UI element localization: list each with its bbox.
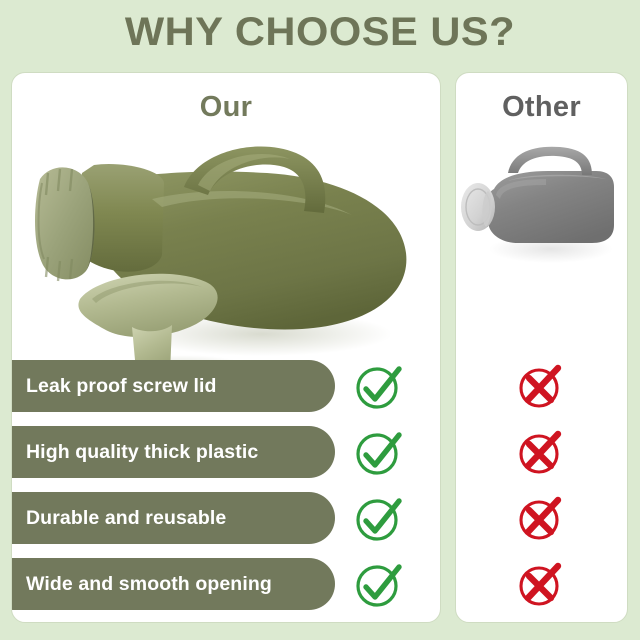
our-feature-list: Leak proof screw lid High quality thick … xyxy=(12,354,441,618)
check-circle-icon xyxy=(352,424,408,480)
cross-row xyxy=(456,354,628,420)
feature-pill[interactable]: High quality thick plastic xyxy=(12,426,335,478)
page-title: WHY CHOOSE US? xyxy=(0,8,640,56)
feature-pill[interactable]: Leak proof screw lid xyxy=(12,360,335,412)
feature-row[interactable]: Leak proof screw lid xyxy=(12,354,441,420)
feature-row[interactable]: High quality thick plastic xyxy=(12,420,441,486)
other-card: Other xyxy=(455,72,628,623)
check-circle-icon xyxy=(352,490,408,546)
our-card: Our xyxy=(11,72,441,623)
cross-circle-icon xyxy=(514,492,566,544)
cross-circle-icon xyxy=(514,360,566,412)
our-column-heading: Our xyxy=(12,91,440,124)
other-column-heading: Other xyxy=(456,91,627,124)
check-circle-icon xyxy=(352,358,408,414)
cross-row xyxy=(456,552,628,618)
cross-row xyxy=(456,486,628,552)
feature-label: Durable and reusable xyxy=(12,507,226,530)
feature-pill[interactable]: Wide and smooth opening xyxy=(12,558,335,610)
feature-row[interactable]: Wide and smooth opening xyxy=(12,552,441,618)
check-circle-icon xyxy=(352,556,408,612)
cross-circle-icon xyxy=(514,426,566,478)
feature-label: Leak proof screw lid xyxy=(12,375,217,398)
cross-row xyxy=(456,420,628,486)
feature-label: High quality thick plastic xyxy=(12,441,258,464)
feature-pill[interactable]: Durable and reusable xyxy=(12,492,335,544)
feature-row[interactable]: Durable and reusable xyxy=(12,486,441,552)
cross-circle-icon xyxy=(514,558,566,610)
feature-label: Wide and smooth opening xyxy=(12,573,272,596)
other-cross-list xyxy=(456,354,628,618)
